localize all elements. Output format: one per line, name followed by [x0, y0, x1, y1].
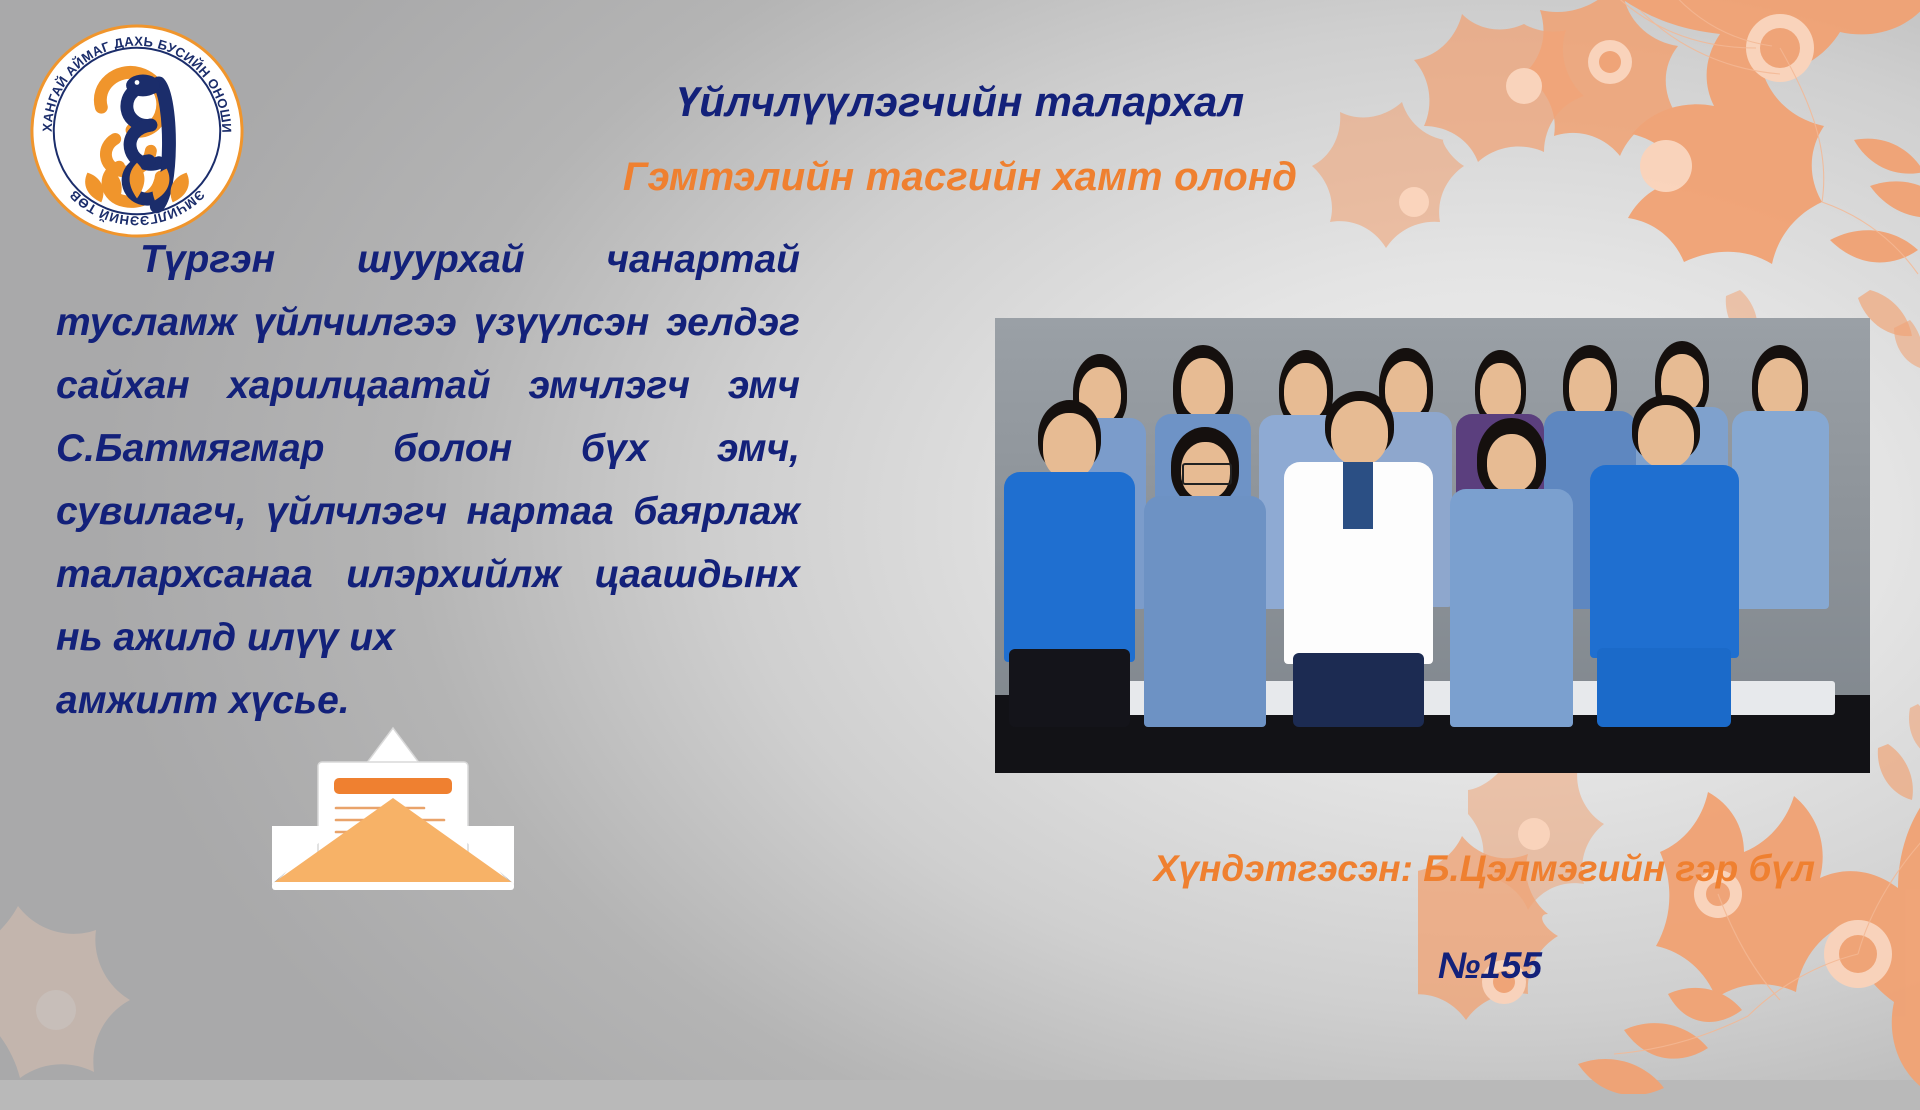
photo-person-back-8: [1730, 345, 1831, 609]
page-subtitle: Гэмтэлийн тасгийн хамт олонд: [0, 155, 1920, 200]
body-line-2: тусламж үйлчилгээ үзүүлсэн эелдэг: [56, 301, 800, 344]
hospital-seal-logo: ӨВӨРХАНГАЙ АЙМАГ ДАХЬ БУСИЙН ОНОШИЛГОО Э…: [28, 22, 246, 240]
photo-person-front-4: [1450, 418, 1573, 727]
slide-canvas: ӨВӨРХАНГАЙ АЙМАГ ДАХЬ БУСИЙН ОНОШИЛГОО Э…: [0, 0, 1920, 1080]
body-line-4: С.Батмягмар болон бүх эмч,: [56, 427, 800, 470]
medical-team-group-photo: [995, 318, 1870, 773]
reference-number: №155: [1438, 945, 1542, 987]
body-line-3: сайхан харилцаатай эмчлэгч эмч: [56, 364, 800, 407]
page-title: Үйлчлүүлэгчийн талархал: [0, 78, 1920, 126]
photo-person-front-5: [1590, 395, 1739, 727]
photo-person-front-2: [1144, 427, 1267, 727]
ornament-bottom-left-icon: [0, 860, 290, 1110]
signature-line: Хүндэтгэсэн: Б.Цэлмэгийн гэр бүл: [1154, 848, 1815, 890]
open-envelope-illustration: [258, 706, 528, 891]
body-line-1: Түргэн шуурхай чанартай: [140, 238, 800, 281]
photo-person-front-1: [1004, 400, 1135, 728]
body-line-5: сувилагч, үйлчлэгч нартаа: [56, 490, 614, 533]
photo-person-front-3-doctor: [1284, 391, 1433, 728]
letter-body-text: Түргэн шуурхай чанартай тусламж үйлчилгэ…: [56, 228, 800, 732]
